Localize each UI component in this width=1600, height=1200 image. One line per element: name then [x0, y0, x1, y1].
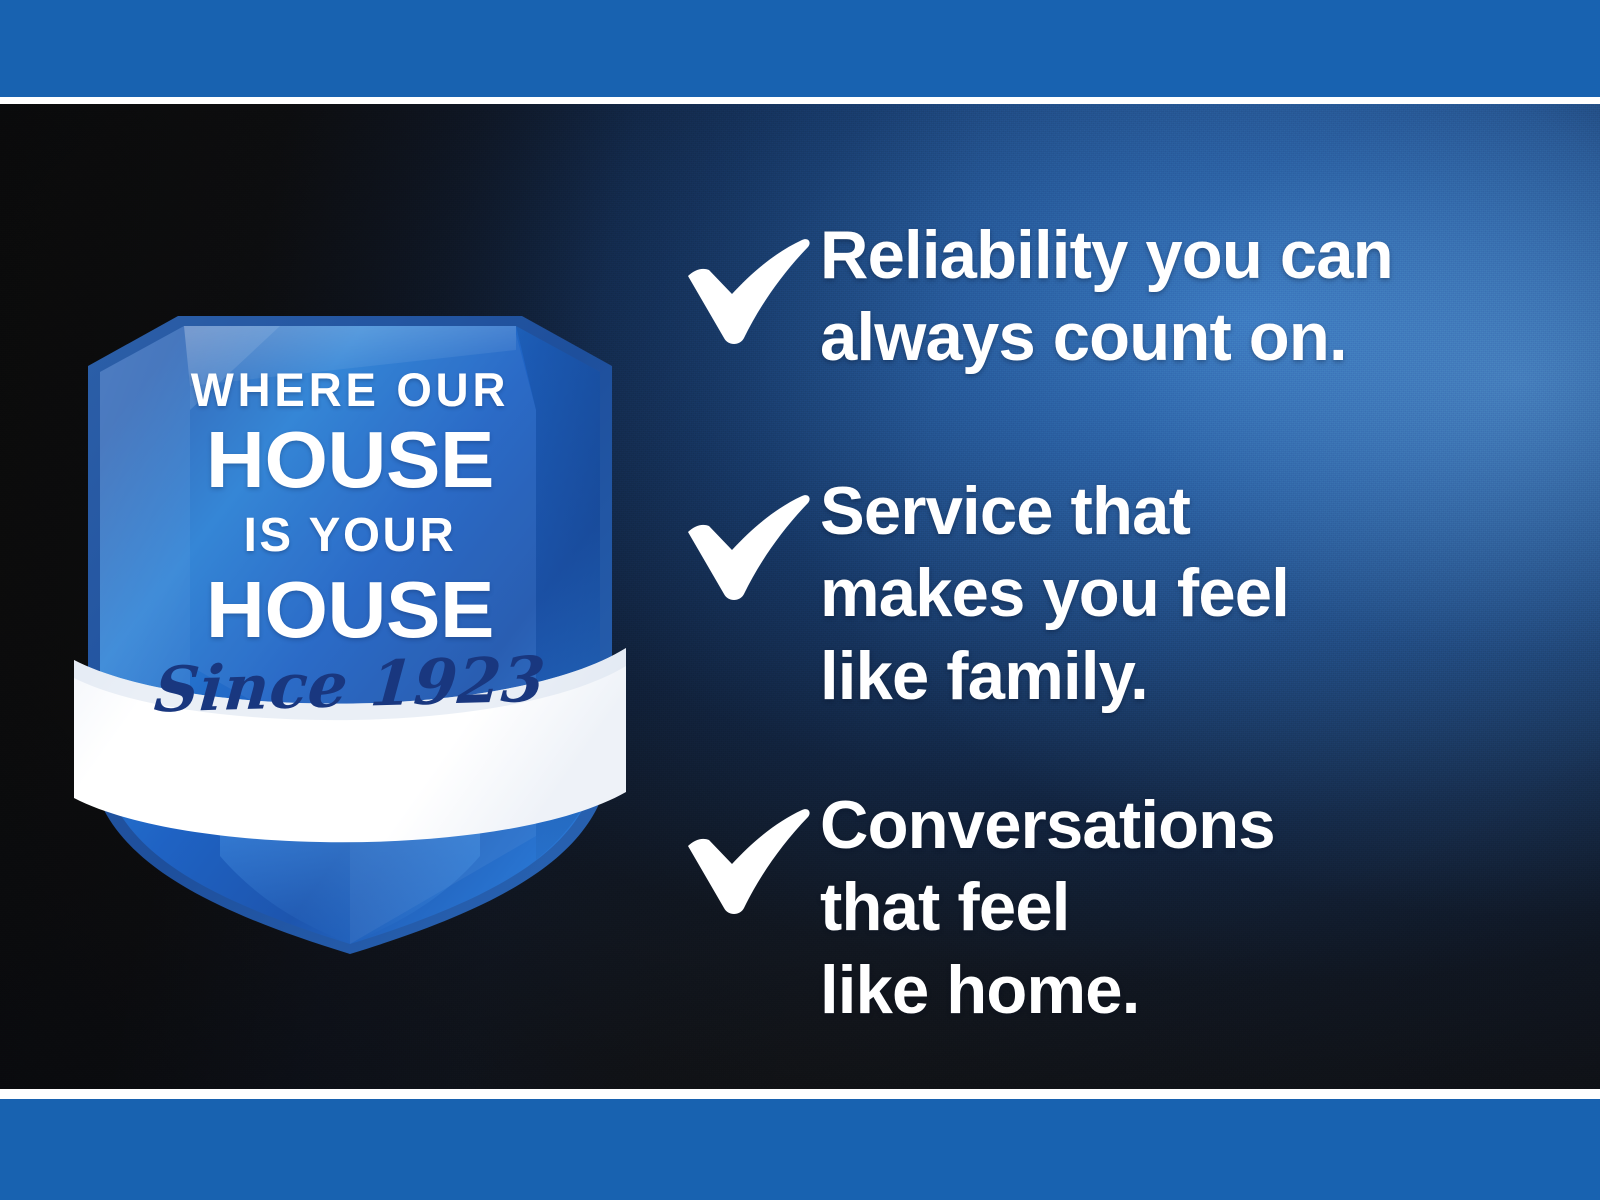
- benefits-checklist: Reliability you can always count on. Ser…: [670, 104, 1550, 1089]
- list-item: Service that makes you feel like family.: [670, 470, 1550, 717]
- list-item-line: that feel: [820, 866, 1539, 948]
- list-item-text: Conversations that feel like home.: [820, 784, 1539, 1031]
- top-brand-bar: [0, 0, 1600, 97]
- list-item-line: Service that: [820, 470, 1539, 552]
- bottom-brand-bar: [0, 1099, 1600, 1200]
- list-item-line: makes you feel: [820, 552, 1539, 634]
- list-item-line: like home.: [820, 949, 1539, 1031]
- list-item-text: Service that makes you feel like family.: [820, 470, 1539, 717]
- list-item-text: Reliability you can always count on.: [820, 214, 1539, 379]
- check-icon: [670, 790, 820, 920]
- list-item-line: always count on.: [820, 296, 1539, 378]
- promo-poster: WHERE OUR HOUSE IS YOUR HOUSE Since 1923…: [0, 0, 1600, 1200]
- list-item-line: Reliability you can: [820, 214, 1539, 296]
- check-icon: [670, 476, 820, 606]
- shield-badge: WHERE OUR HOUSE IS YOUR HOUSE Since 1923: [70, 196, 630, 956]
- list-item-line: like family.: [820, 635, 1539, 717]
- list-item: Conversations that feel like home.: [670, 784, 1550, 1031]
- list-item: Reliability you can always count on.: [670, 214, 1550, 379]
- list-item-line: Conversations: [820, 784, 1539, 866]
- check-icon: [670, 220, 820, 350]
